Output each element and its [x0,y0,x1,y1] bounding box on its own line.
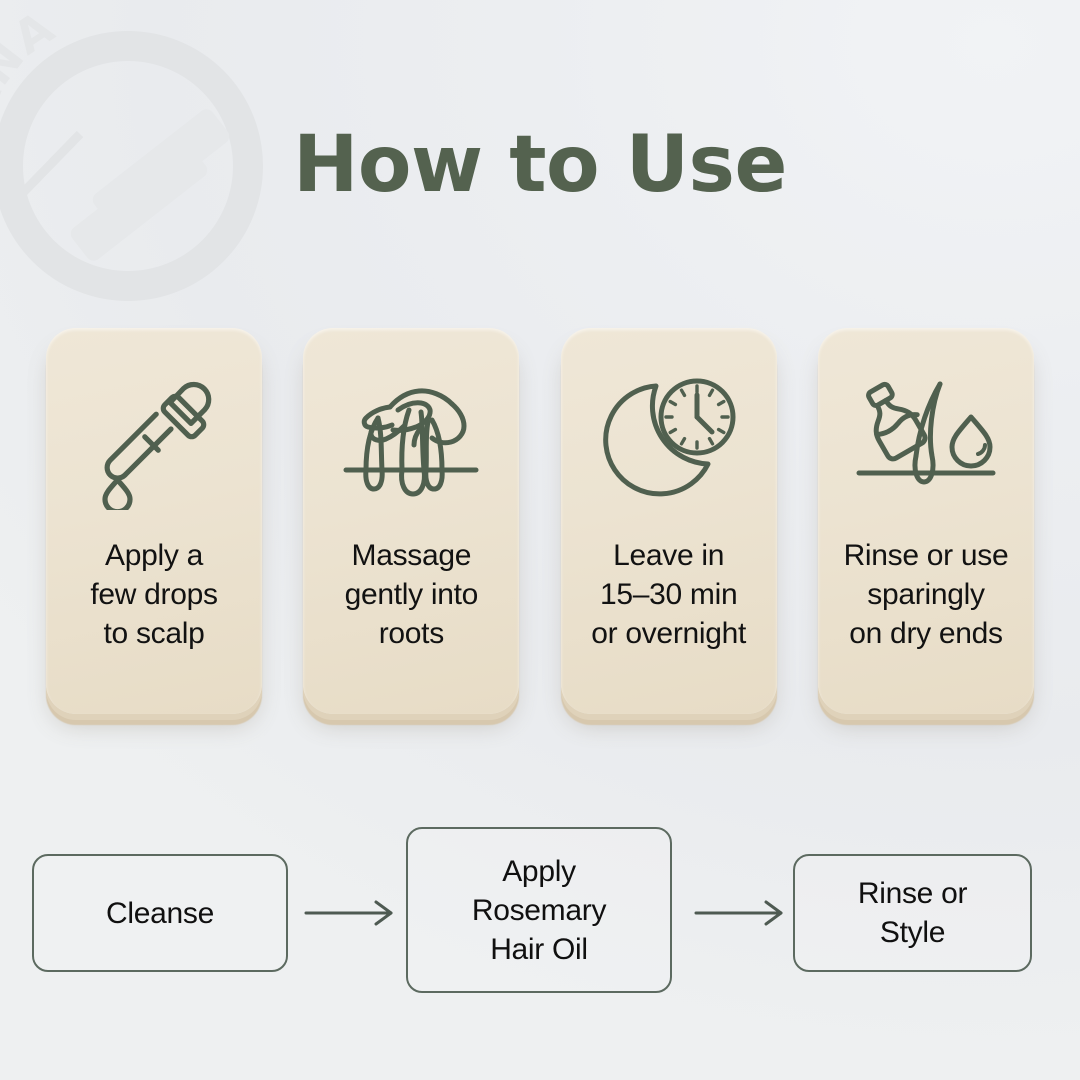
process-flow: Cleanse Apply Rosemary Hair Oil Rinse or… [0,827,1080,1002]
step-card-3-label: Leave in 15–30 min or overnight [566,536,772,653]
steps-row: Apply a few drops to scalp [46,328,1034,718]
step-card-4[interactable]: Rinse or use sparingly on dry ends [818,328,1034,714]
flow-box-cleanse[interactable]: Cleanse [32,854,288,972]
dropper-icon [79,370,229,510]
step-card-1[interactable]: Apply a few drops to scalp [46,328,262,714]
flow-box-apply-oil[interactable]: Apply Rosemary Hair Oil [406,827,672,993]
flow-arrow-right-icon [296,895,406,931]
step-card-4-label: Rinse or use sparingly on dry ends [823,536,1029,653]
bottle-hair-drop-icon [851,370,1001,510]
step-card-2-label: Massage gently into roots [308,536,514,653]
flow-box-rinse-style-label: Rinse or Style [858,874,967,952]
flow-box-cleanse-label: Cleanse [106,894,214,933]
flow-arrow-right-icon [686,895,796,931]
infographic-canvas: MIANA How to Use Apply a few drops to sc… [0,0,1080,1080]
step-card-2[interactable]: Massage gently into roots [303,328,519,714]
hand-massage-scalp-icon [336,370,486,510]
step-card-3[interactable]: Leave in 15–30 min or overnight [561,328,777,714]
page-title: How to Use [0,118,1080,212]
moon-clock-icon [594,370,744,510]
flow-box-rinse-style[interactable]: Rinse or Style [793,854,1032,972]
step-card-1-label: Apply a few drops to scalp [51,536,257,653]
flow-box-apply-oil-label: Apply Rosemary Hair Oil [472,852,606,969]
